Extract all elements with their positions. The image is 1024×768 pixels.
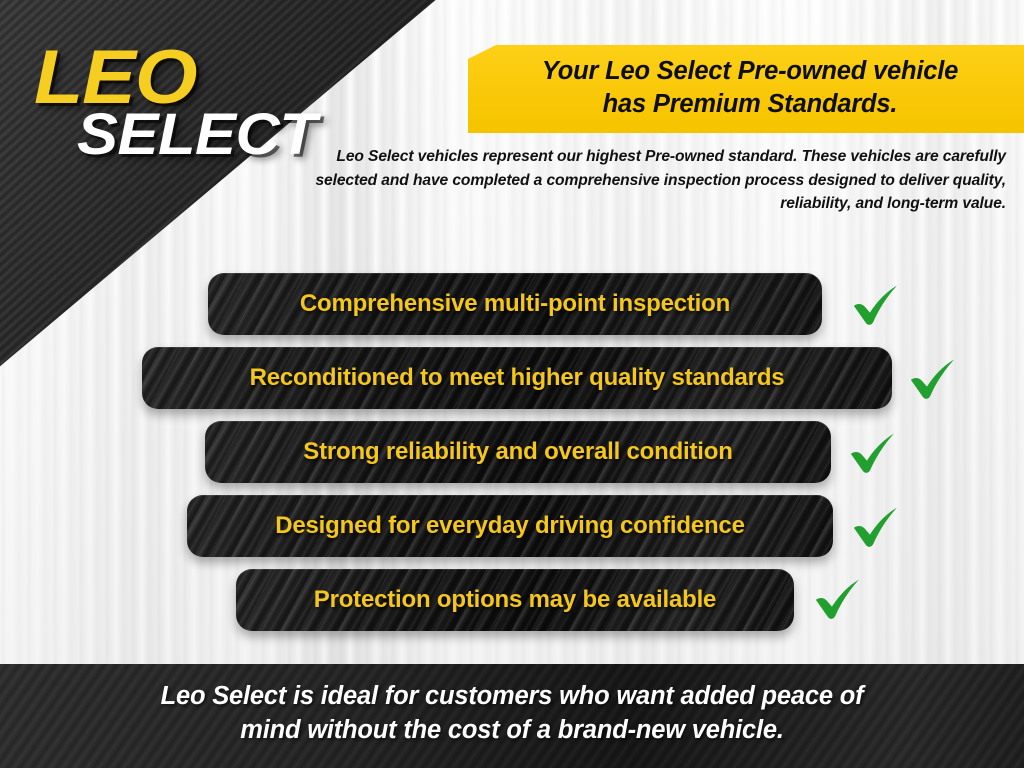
check-mark-icon <box>848 278 902 332</box>
footer-banner: Leo Select is ideal for customers who wa… <box>0 664 1024 768</box>
check-mark-icon <box>845 426 899 480</box>
feature-pill-label: Comprehensive multi-point inspection <box>290 290 740 318</box>
feature-pill[interactable]: Designed for everyday driving confidence <box>187 495 833 557</box>
feature-pill-label: Reconditioned to meet higher quality sta… <box>240 364 795 392</box>
headline-line-1: Your Leo Select Pre-owned vehicle <box>542 57 958 85</box>
feature-pill[interactable]: Comprehensive multi-point inspection <box>208 273 822 335</box>
footer-text: Leo Select is ideal for customers who wa… <box>121 680 904 751</box>
feature-pill-label: Protection options may be available <box>304 586 726 614</box>
footer-line-1: Leo Select is ideal for customers who wa… <box>161 682 864 710</box>
leo-select-poster: LEO SELECT Your Leo Select Pre-owned veh… <box>0 0 1024 768</box>
headline-banner: Your Leo Select Pre-owned vehicle has Pr… <box>468 45 1024 133</box>
feature-pill[interactable]: Protection options may be available <box>236 569 794 631</box>
headline-line-2: has Premium Standards. <box>603 90 898 118</box>
headline-text: Your Leo Select Pre-owned vehicle has Pr… <box>520 55 972 122</box>
feature-pill-label: Designed for everyday driving confidence <box>265 512 754 540</box>
check-mark-icon <box>905 352 959 406</box>
logo-secondary-text: SELECT <box>77 106 316 164</box>
feature-pill-label: Strong reliability and overall condition <box>293 438 742 466</box>
check-mark-icon <box>810 572 864 626</box>
feature-pill[interactable]: Reconditioned to meet higher quality sta… <box>142 347 892 409</box>
footer-line-2: mind without the cost of a brand-new veh… <box>240 716 784 744</box>
feature-pill[interactable]: Strong reliability and overall condition <box>205 421 831 483</box>
brand-logo: LEO SELECT <box>32 40 302 175</box>
check-mark-icon <box>848 500 902 554</box>
intro-paragraph: Leo Select vehicles represent our highes… <box>300 145 1006 216</box>
